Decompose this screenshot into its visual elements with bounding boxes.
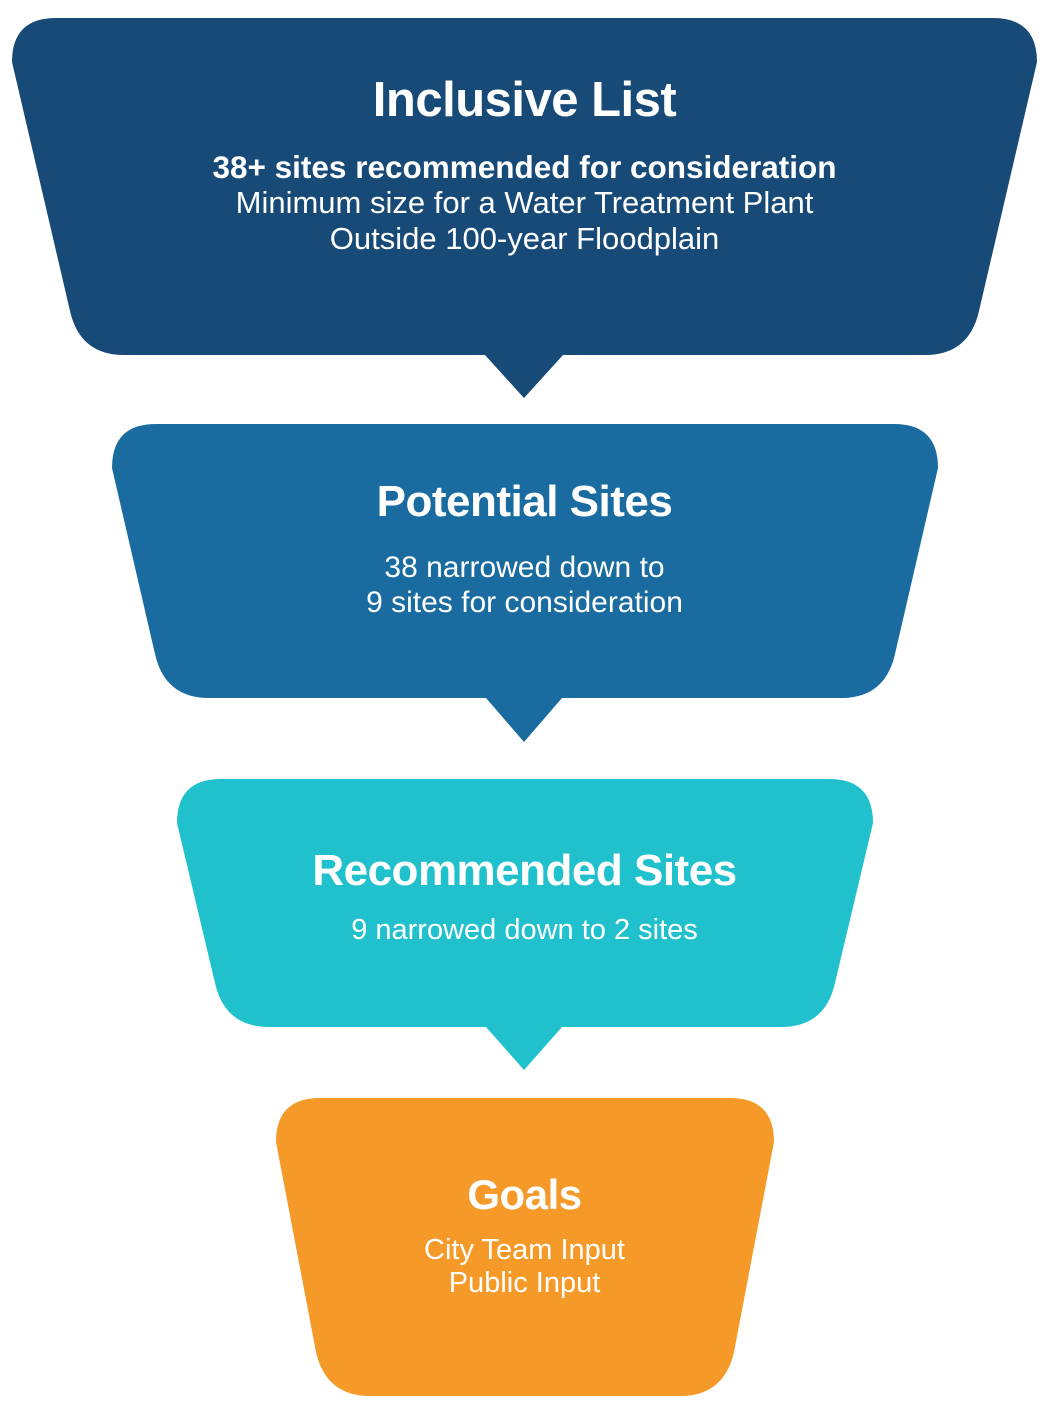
stage-3-subtext: 9 narrowed down to 2 sites [0,914,1049,948]
stage-3-text-block: Recommended Sites 9 narrowed down to 2 s… [0,845,1049,948]
stage-4-text-block: Goals City Team Input Public Input [0,1171,1049,1301]
stage-1-line-3: Outside 100-year Floodplain [0,221,1049,257]
stage-2-subtext: 38 narrowed down to 9 sites for consider… [0,551,1049,621]
stage-2-title: Potential Sites [0,476,1049,527]
stage-1-line-1: 38+ sites recommended for consideration [0,149,1049,186]
stage-4-line-1: City Team Input [0,1234,1049,1268]
stage-1-text-block: Inclusive List 38+ sites recommended for… [0,72,1049,257]
stage-2-line-1: 38 narrowed down to [0,551,1049,586]
stage-3-title: Recommended Sites [0,845,1049,896]
stage-2-text-block: Potential Sites 38 narrowed down to 9 si… [0,476,1049,621]
stage-2-line-2: 9 sites for consideration [0,586,1049,621]
stage-1-line-2: Minimum size for a Water Treatment Plant [0,185,1049,221]
stage-1-title: Inclusive List [0,72,1049,129]
stage-4-line-2: Public Input [0,1267,1049,1301]
stage-1-subtext: 38+ sites recommended for consideration … [0,149,1049,257]
stage-4-title: Goals [0,1171,1049,1220]
stage-3-line-1: 9 narrowed down to 2 sites [0,914,1049,948]
funnel-diagram: Inclusive List 38+ sites recommended for… [0,0,1049,1421]
stage-4-subtext: City Team Input Public Input [0,1234,1049,1301]
